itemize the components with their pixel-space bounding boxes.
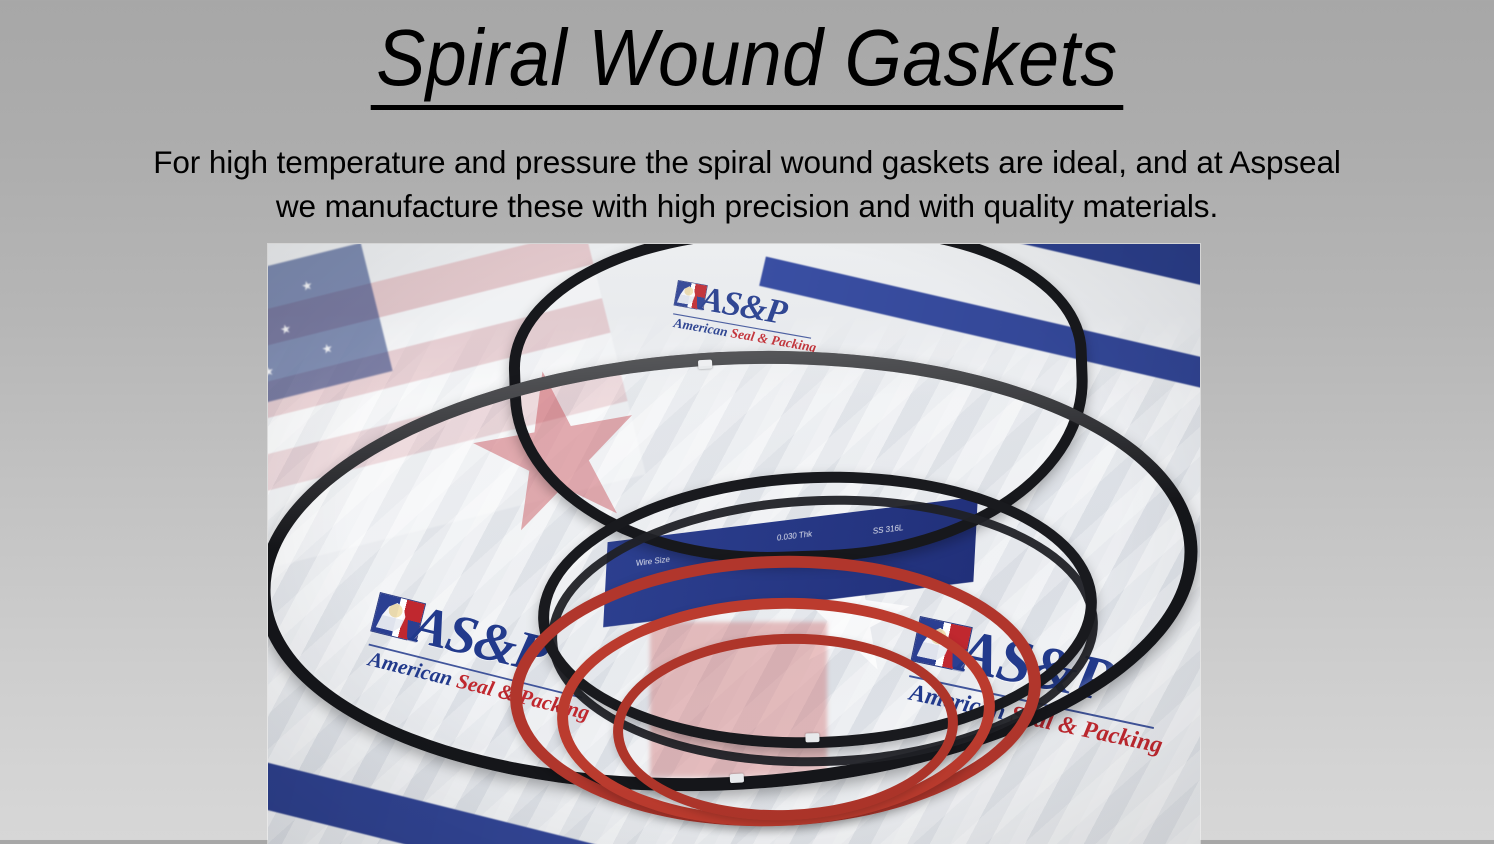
gasket-photo-inner: Graphite Wire Size 0.030 Thk SS 316L AS&… [268, 244, 1200, 844]
gasket-photo: Graphite Wire Size 0.030 Thk SS 316L AS&… [268, 244, 1200, 844]
slide-canvas: Spiral Wound Gaskets For high temperatur… [0, 0, 1494, 840]
title-container: Spiral Wound Gaskets [0, 16, 1494, 110]
page-title: Spiral Wound Gaskets [371, 16, 1123, 110]
body-paragraph: For high temperature and pressure the sp… [133, 140, 1361, 228]
